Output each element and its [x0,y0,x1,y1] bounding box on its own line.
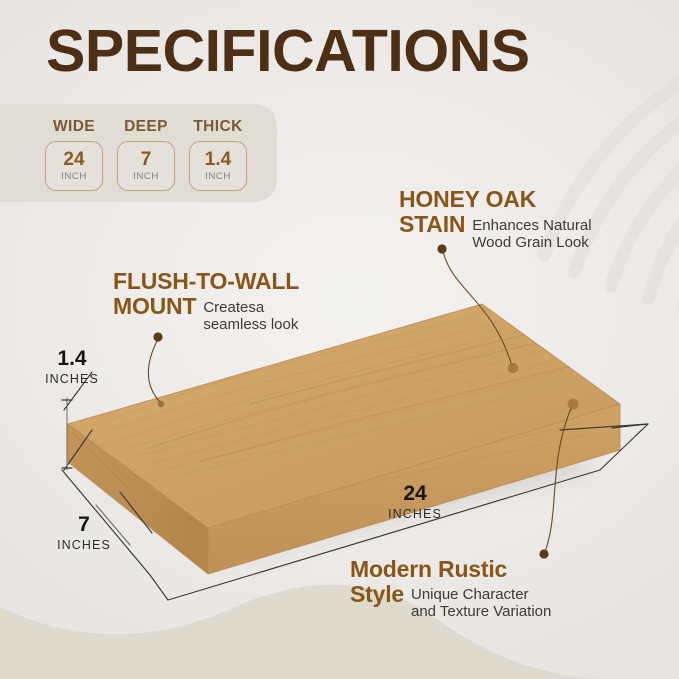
spec-value-thick: 1.4 [205,150,231,169]
product-specification-image: SPECIFICATIONS WIDE 24 INCH DEEP 7 INCH … [0,0,679,679]
spec-item-thick: THICK 1.4 INCH [189,118,247,191]
spec-box-wide: 24 INCH [45,141,103,191]
dimension-label-thickness: 1.4 INCHES [36,348,108,386]
dimension-value-thickness: 1.4 [36,348,108,369]
callout-honey-desc-line1: Enhances Natural [472,217,591,234]
callout-modern-rustic-style: Modern Rustic Style Unique Character and… [350,558,640,621]
dimension-unit-thickness: INCHES [36,372,108,386]
spec-label-wide: WIDE [53,118,95,136]
callout-flush-desc-line2: seamless look [203,316,298,333]
spec-unit-thick: INCH [205,171,231,182]
spec-summary-badge: WIDE 24 INCH DEEP 7 INCH THICK 1.4 INCH [0,104,277,202]
shelf-top-grain [68,304,620,528]
shelf-drop-shadow [70,400,600,560]
callout-flush-title-line1: FLUSH-TO-WALL [113,270,383,294]
spec-label-thick: THICK [193,118,242,136]
spec-unit-deep: INCH [133,171,159,182]
dimension-unit-depth: INCHES [48,538,120,552]
callout-honey-desc-line2: Wood Grain Look [472,234,588,251]
callout-flush-to-wall-mount: FLUSH-TO-WALL MOUNT Createsa seamless lo… [113,270,383,334]
spec-unit-wide: INCH [61,171,87,182]
dimension-label-depth: 7 INCHES [48,514,120,552]
page-title: SPECIFICATIONS [46,22,530,81]
callout-flush-title-line2: MOUNT [113,295,196,319]
callout-honey-oak-stain: HONEY OAK STAIN Enhances Natural Wood Gr… [399,188,661,252]
dimension-label-width: 24 INCHES [372,483,458,521]
shelf-edges [68,304,620,574]
callout-rustic-title-line2: Style [350,583,404,607]
spec-item-wide: WIDE 24 INCH [45,118,103,191]
shelf-top-face [68,304,620,528]
callout-rustic-desc-line2: and Texture Variation [411,603,551,620]
callout-honey-title-line1: HONEY OAK [399,188,661,212]
spec-value-wide: 24 [63,150,84,169]
spec-label-deep: DEEP [124,118,168,136]
spec-box-thick: 1.4 INCH [189,141,247,191]
dimension-unit-width: INCHES [372,507,458,521]
callout-rustic-desc-line1: Unique Character [411,586,529,603]
spec-item-deep: DEEP 7 INCH [117,118,175,191]
dimension-value-depth: 7 [48,514,120,535]
spec-value-deep: 7 [141,150,152,169]
callout-flush-desc-line1: Createsa [203,299,264,316]
callout-honey-title-line2: STAIN [399,213,465,237]
spec-box-deep: 7 INCH [117,141,175,191]
dimension-value-width: 24 [372,483,458,504]
callout-rustic-title-line1: Modern Rustic [350,558,640,582]
